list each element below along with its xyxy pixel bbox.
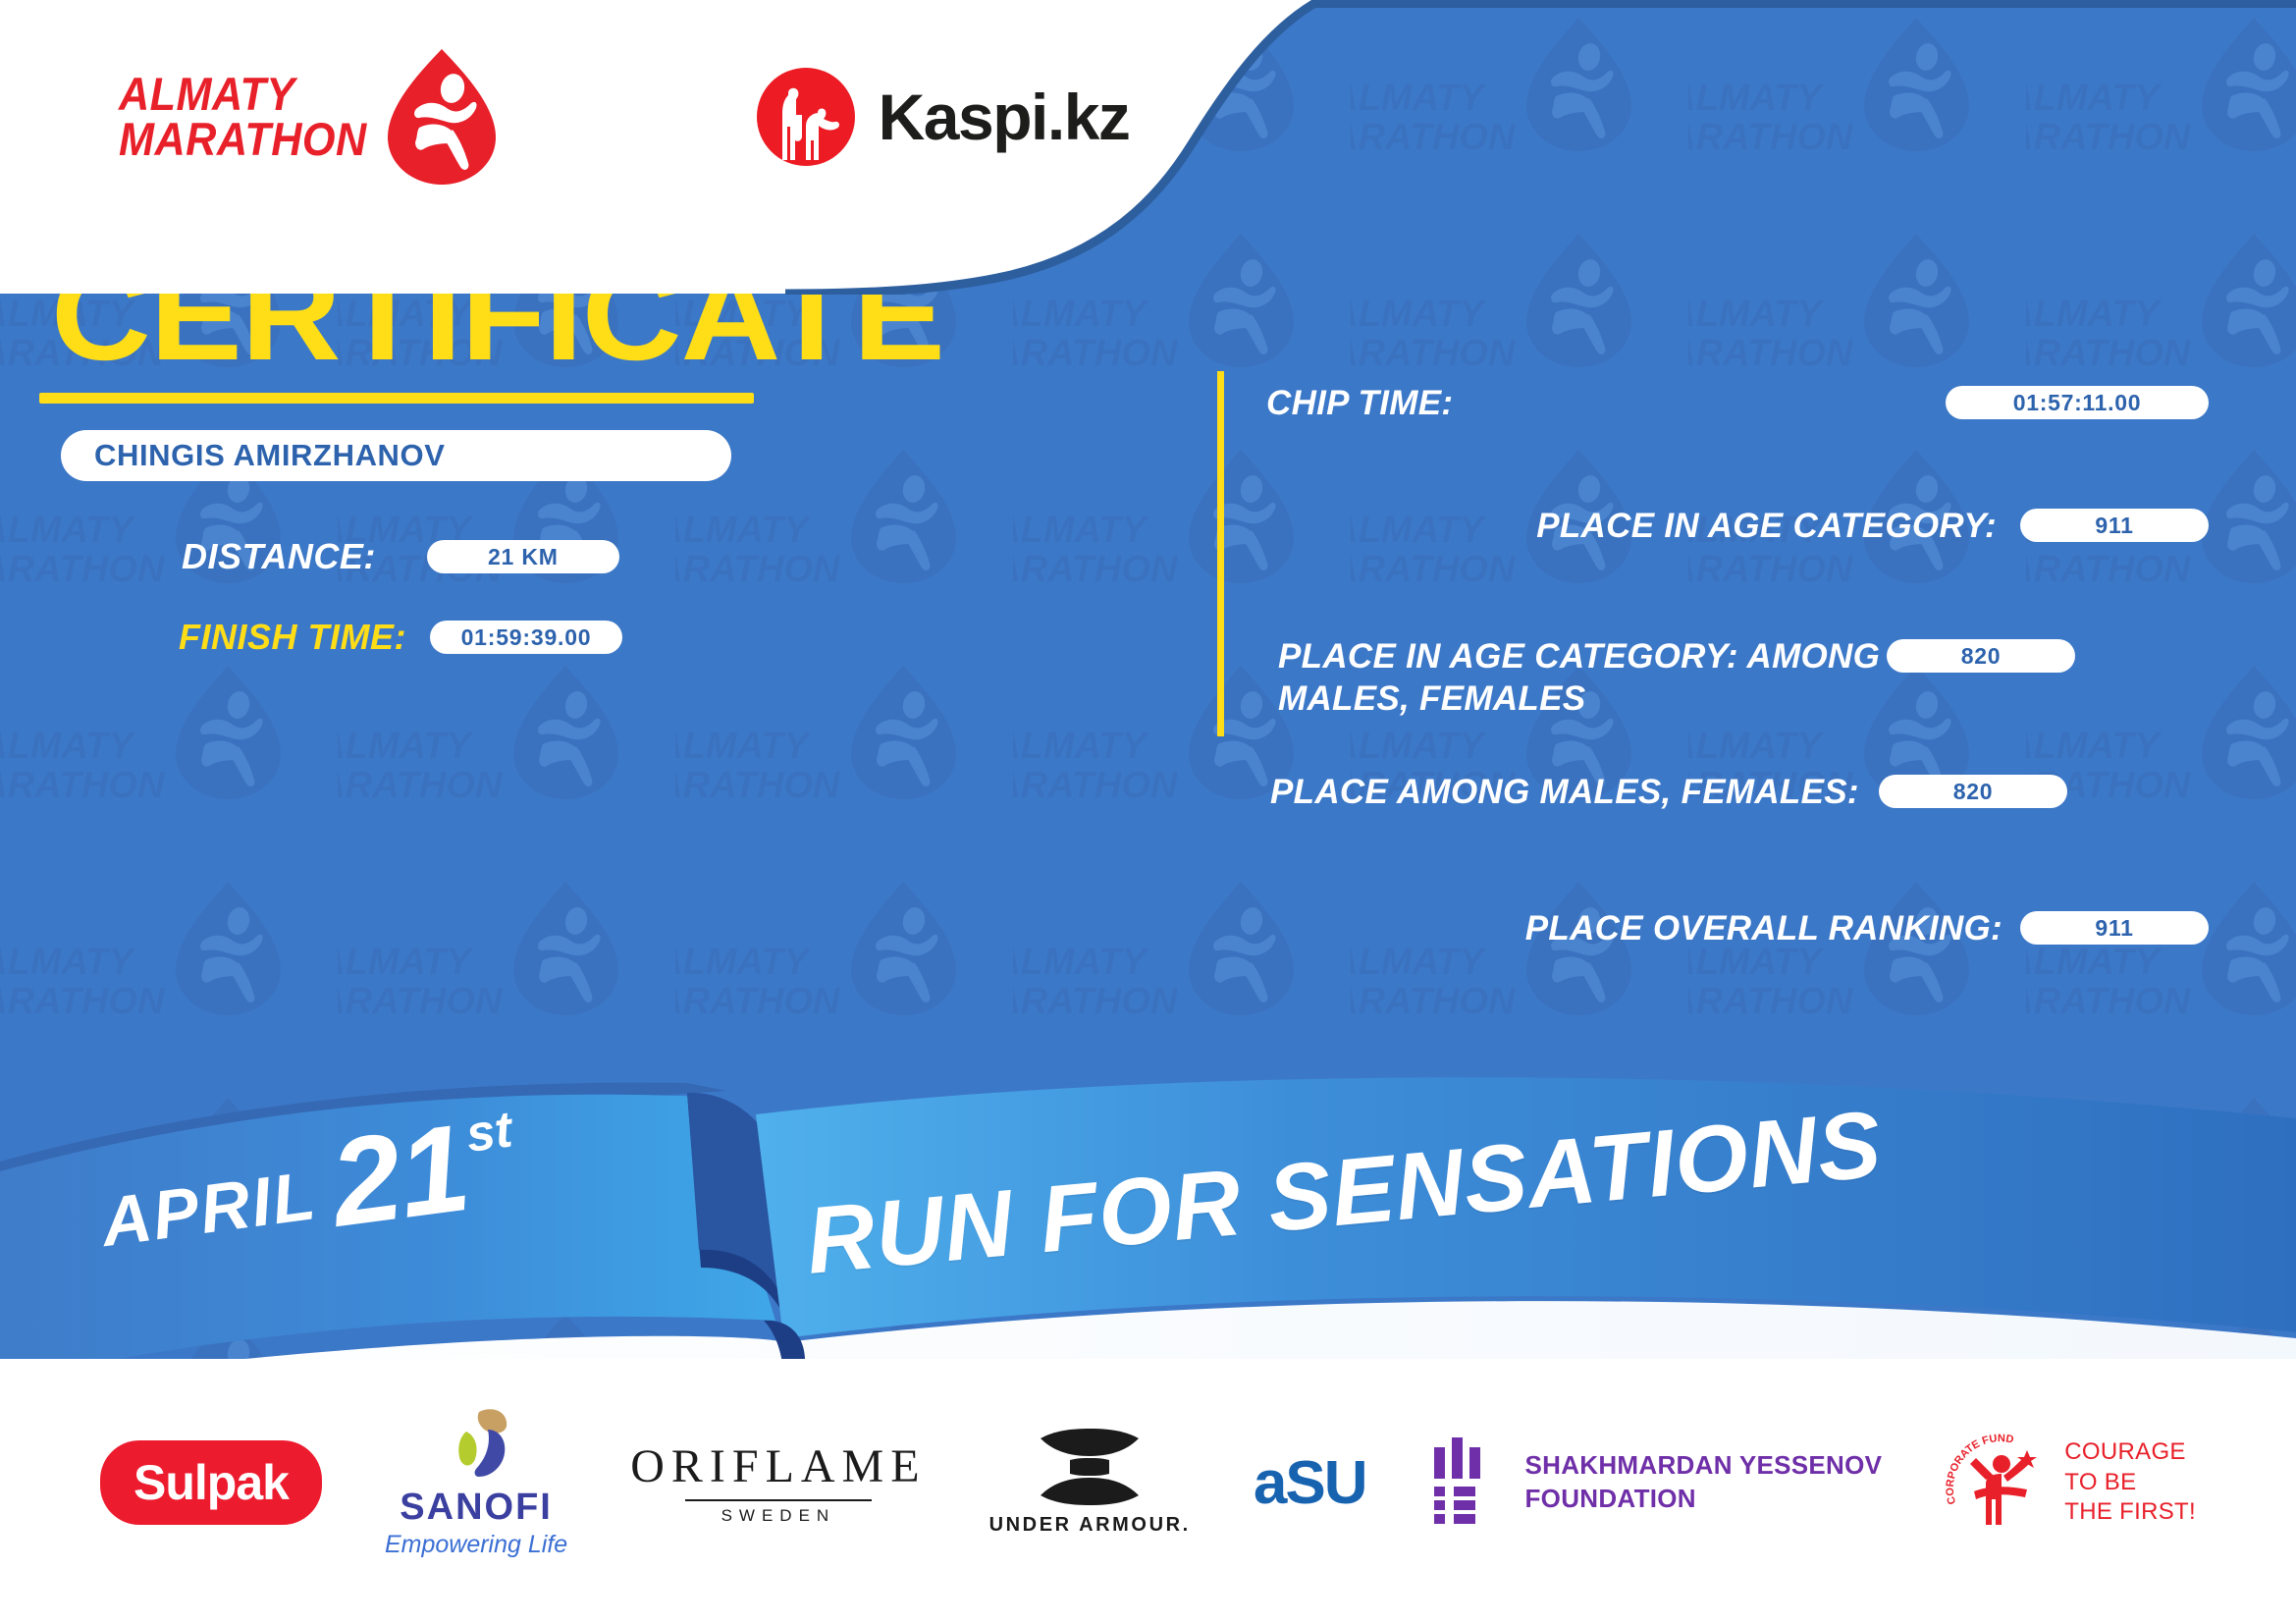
distance-value: 21 KM xyxy=(427,540,619,573)
athlete-name-value: CHINGIS AMIRZHANOV xyxy=(94,438,446,473)
athlete-name-field: CHINGIS AMIRZHANOV xyxy=(61,430,731,481)
sanofi-tagline: Empowering Life xyxy=(385,1531,567,1559)
event-day-ordinal: st xyxy=(463,1100,516,1164)
oriflame-subtitle: SWEDEN xyxy=(721,1506,836,1526)
event-day: 21 xyxy=(325,1113,473,1239)
distance-row: DISTANCE: 21 KM xyxy=(182,536,619,577)
courage-fund-icon: CORPORATE FUND xyxy=(1945,1429,2053,1537)
place-overall-label: PLACE OVERALL RANKING: xyxy=(1525,908,2002,950)
sponsor-logo-sulpak: Sulpak xyxy=(100,1440,322,1525)
sponsor-strip: Sulpak SANOFI Empowering Life ORIFLAME S… xyxy=(0,1359,2296,1624)
event-month: APRIL xyxy=(97,1156,322,1262)
courage-line1: COURAGE xyxy=(2064,1437,2196,1468)
finish-time-row: FINISH TIME: 01:59:39.00 xyxy=(179,617,622,658)
almaty-marathon-logo: ALMATY MARATHON xyxy=(108,47,500,187)
place-among-mf-value: 820 xyxy=(1879,775,2067,808)
under-armour-wordmark: UNDER ARMOUR. xyxy=(989,1514,1191,1537)
yessenov-line1: SHAKHMARDAN YESSENOV xyxy=(1524,1449,1882,1483)
sanofi-wordmark: SANOFI xyxy=(400,1487,553,1529)
title-underline xyxy=(39,393,754,404)
yessenov-line2: FOUNDATION xyxy=(1524,1483,1882,1516)
place-among-mf-label: PLACE AMONG MALES, FEMALES: xyxy=(1270,772,1879,814)
almaty-marathon-wordmark: ALMATY MARATHON xyxy=(119,72,367,162)
courage-line3: THE FIRST! xyxy=(2064,1497,2196,1528)
sponsor-logo-oriflame: ORIFLAME SWEDEN xyxy=(630,1439,926,1526)
under-armour-icon xyxy=(1021,1429,1158,1505)
stat-row: PLACE AMONG MALES, FEMALES: 820 xyxy=(1266,772,2209,814)
sponsor-logo-sanofi: SANOFI Empowering Life xyxy=(385,1406,567,1559)
stat-row: PLACE IN AGE CATEGORY: 911 xyxy=(1266,506,2209,548)
sanofi-bird-icon xyxy=(434,1406,518,1485)
finish-time-label: FINISH TIME: xyxy=(179,617,406,658)
almaty-marathon-line2: MARATHON xyxy=(119,117,367,162)
kaspi-wordmark: Kaspi.kz xyxy=(879,80,1130,154)
stat-row: PLACE OVERALL RANKING: 911 xyxy=(1266,908,2209,950)
stat-row: PLACE IN AGE CATEGORY: AMONG MALES, FEMA… xyxy=(1266,636,2209,720)
vertical-divider xyxy=(1217,371,1224,736)
oriflame-divider xyxy=(685,1499,872,1501)
chip-time-value: 01:57:11.00 xyxy=(1946,386,2209,419)
certificate-canvas: ALMATY MARATHON Kaspi.kz CERTIFICATE xyxy=(0,0,2296,1624)
yessenov-glyph-icon xyxy=(1428,1437,1501,1528)
sponsor-logo-yessenov-foundation: SHAKHMARDAN YESSENOV FOUNDATION xyxy=(1428,1437,1882,1528)
courage-line2: TO BE xyxy=(2064,1468,2196,1498)
stat-row: CHIP TIME: 01:57:11.00 xyxy=(1266,383,2209,425)
place-overall-value: 911 xyxy=(2020,911,2209,945)
place-age-category-label: PLACE IN AGE CATEGORY: xyxy=(1536,506,1997,548)
sulpak-wordmark: Sulpak xyxy=(100,1440,322,1525)
place-age-category-value: 911 xyxy=(2020,509,2209,542)
header-logos: ALMATY MARATHON Kaspi.kz xyxy=(108,47,1129,187)
finish-time-value: 01:59:39.00 xyxy=(430,621,622,654)
almaty-marathon-line1: ALMATY xyxy=(119,72,367,117)
kaspi-family-icon xyxy=(755,66,857,168)
kaspi-logo: Kaspi.kz xyxy=(755,66,1130,168)
place-age-category-mf-label: PLACE IN AGE CATEGORY: AMONG MALES, FEMA… xyxy=(1278,636,1887,720)
asu-wordmark: aSU xyxy=(1254,1448,1366,1518)
runner-drop-icon xyxy=(384,47,500,187)
sponsor-logo-under-armour: UNDER ARMOUR. xyxy=(989,1429,1191,1537)
oriflame-wordmark: ORIFLAME xyxy=(630,1439,926,1493)
distance-label: DISTANCE: xyxy=(182,536,376,577)
sponsor-logo-asu: aSU xyxy=(1254,1448,1366,1518)
place-age-category-mf-value: 820 xyxy=(1887,639,2075,673)
chip-time-label: CHIP TIME: xyxy=(1266,383,1699,425)
sponsor-logo-courage-fund: CORPORATE FUND COURAGE TO BE THE FIRST! xyxy=(1945,1429,2196,1537)
